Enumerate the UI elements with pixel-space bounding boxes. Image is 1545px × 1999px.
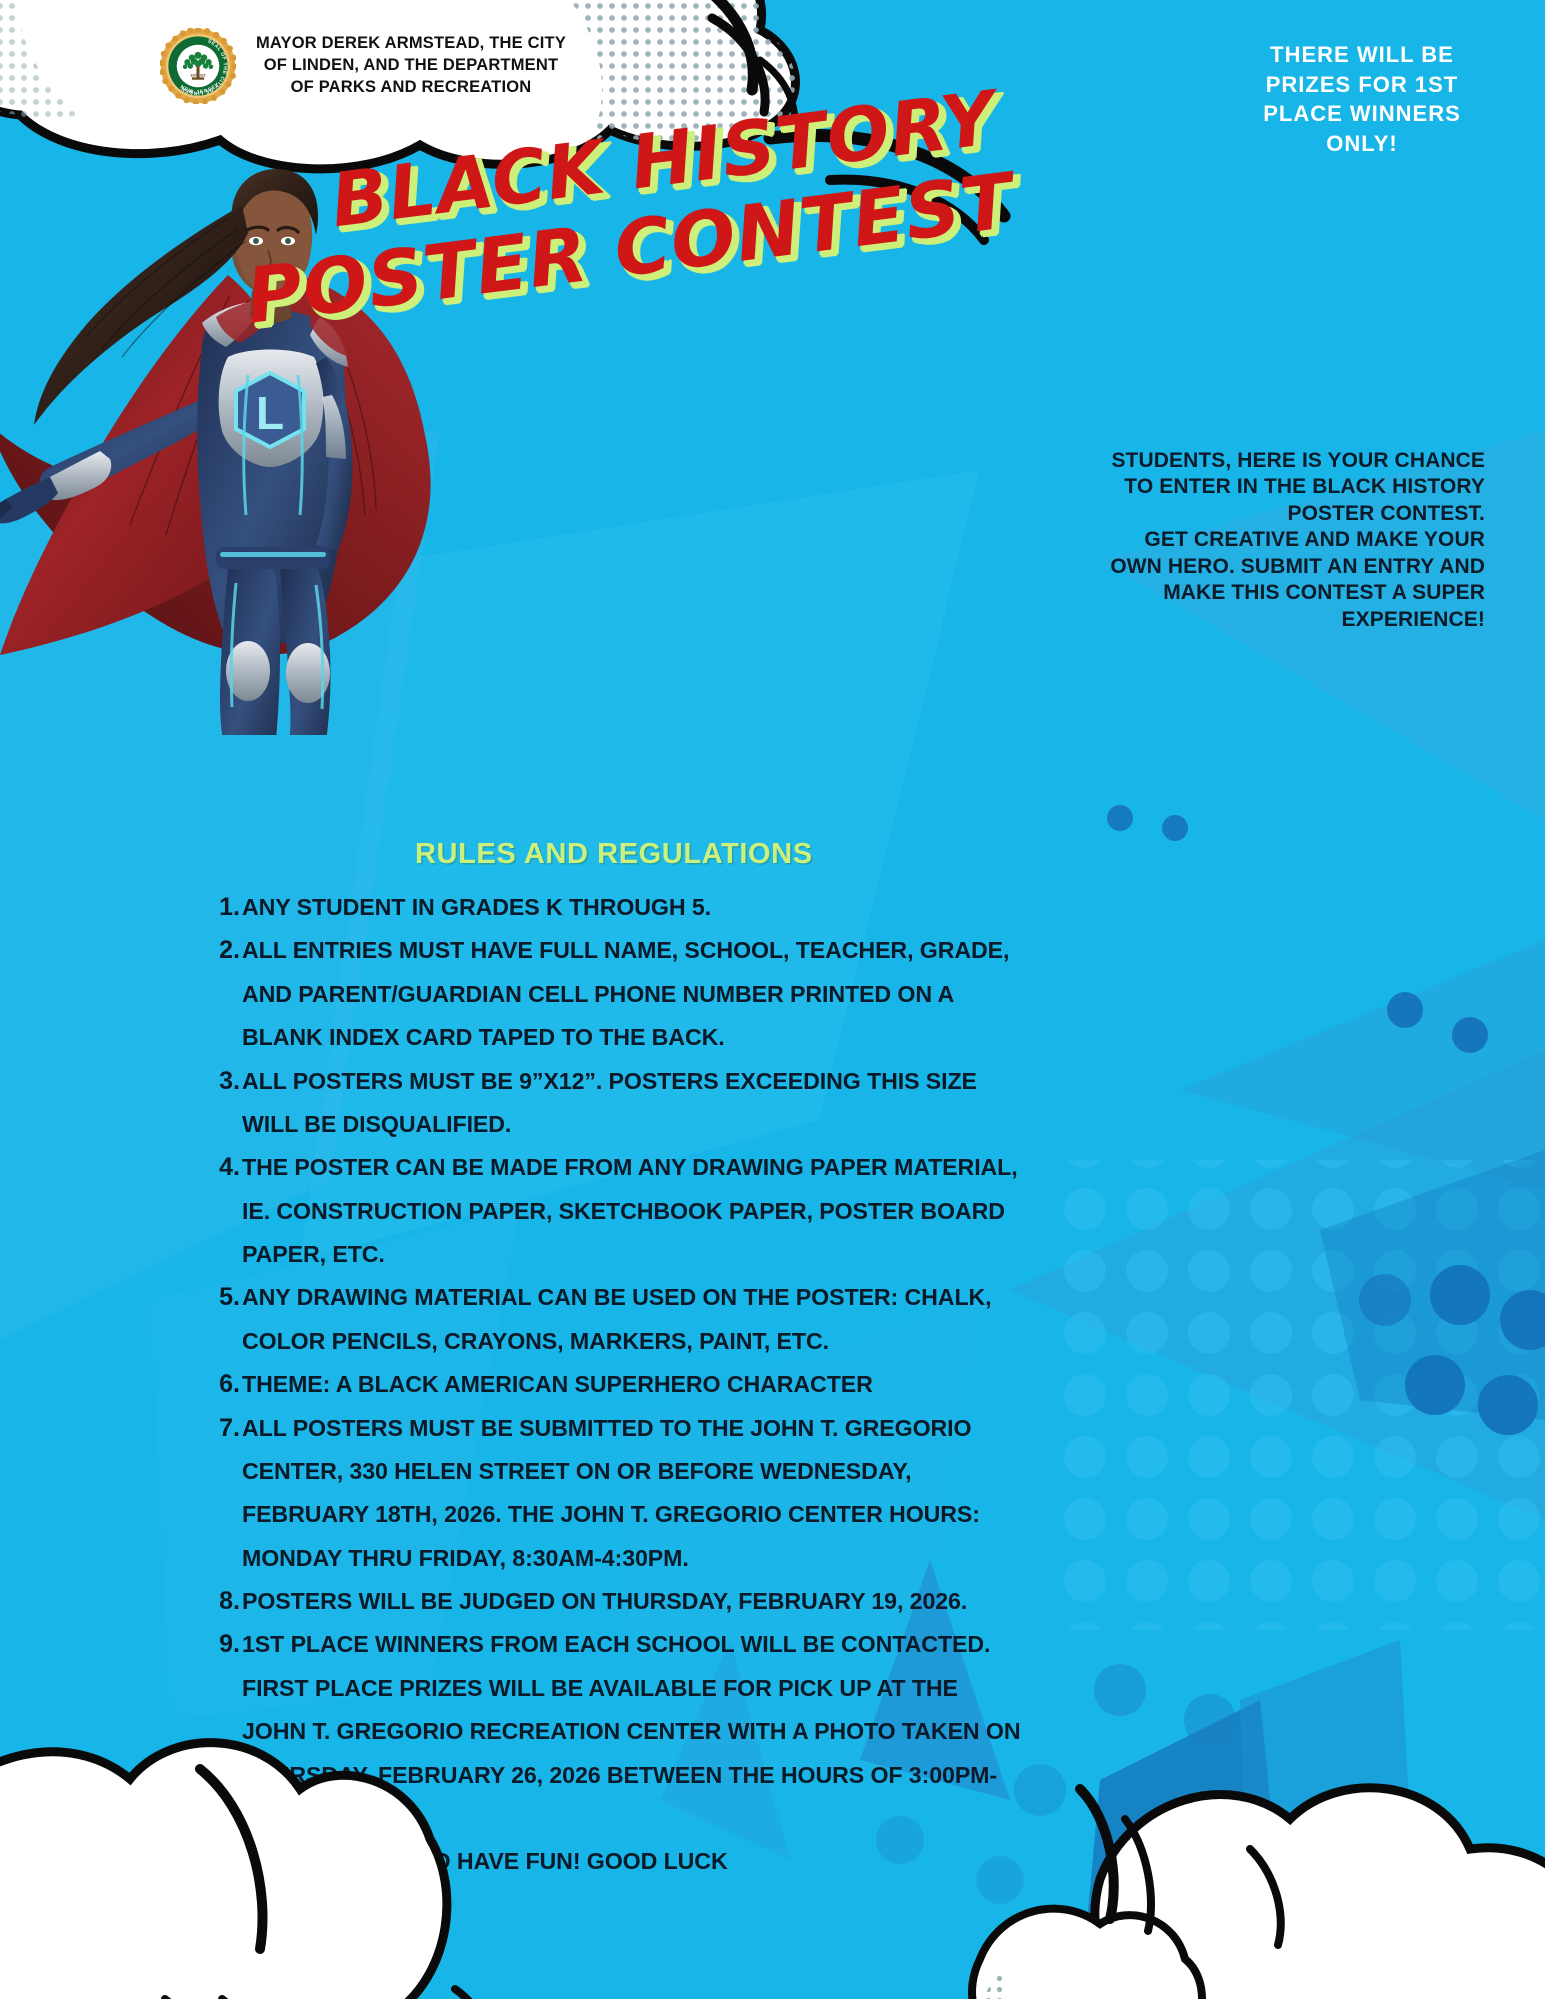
intro-line-6: MAKE THIS CONTEST A SUPER [1095,580,1485,606]
rule-item: 6.THEME: A BLACK AMERICAN SUPERHERO CHAR… [212,1363,1022,1406]
mayor-credit-block: MAYOR DEREK ARMSTEAD, THE CITY OF LINDEN… [246,33,576,99]
rule-item: 2.ALL ENTRIES MUST HAVE FULL NAME, SCHOO… [212,929,1022,1059]
rule-number: 2. [212,929,242,972]
prize-line-1: THERE WILL BE [1237,40,1487,70]
city-seal-icon: SEAL OF THE CITY OF LINDEN NEW JERSEY ES… [160,28,236,104]
rule-text: THE POSTER CAN BE MADE FROM ANY DRAWING … [242,1146,1022,1276]
rules-heading: RULES AND REGULATIONS [415,838,813,871]
rule-item: 4.THE POSTER CAN BE MADE FROM ANY DRAWIN… [212,1146,1022,1276]
rule-number: 7. [212,1407,242,1450]
rule-text: ALL POSTERS MUST BE 9”X12”. POSTERS EXCE… [242,1060,1022,1147]
intro-line-7: EXPERIENCE! [1095,607,1485,633]
comic-cloud-bottom [0,1709,1545,1999]
rule-item: 3.ALL POSTERS MUST BE 9”X12”. POSTERS EX… [212,1060,1022,1147]
rule-item: 7.ALL POSTERS MUST BE SUBMITTED TO THE J… [212,1407,1022,1581]
rule-text: ANY DRAWING MATERIAL CAN BE USED ON THE … [242,1276,1022,1363]
credit-line-2: OF LINDEN, AND THE DEPARTMENT [246,55,576,77]
prize-line-2: PRIZES FOR 1ST [1237,70,1487,100]
rule-item: 8.POSTERS WILL BE JUDGED ON THURSDAY, FE… [212,1580,1022,1623]
rule-number: 1. [212,886,242,929]
rule-number: 9. [212,1623,242,1666]
intro-paragraph: STUDENTS, HERE IS YOUR CHANCE TO ENTER I… [1095,448,1485,633]
intro-line-1: STUDENTS, HERE IS YOUR CHANCE [1095,448,1485,474]
svg-text:EST. 1925: EST. 1925 [191,74,206,78]
poster-canvas: SEAL OF THE CITY OF LINDEN NEW JERSEY ES… [0,0,1545,1999]
rule-text: THEME: A BLACK AMERICAN SUPERHERO CHARAC… [242,1363,1022,1406]
prize-line-3: PLACE WINNERS [1237,99,1487,129]
intro-line-3: POSTER CONTEST. [1095,501,1485,527]
rule-number: 8. [212,1580,242,1623]
rule-number: 3. [212,1060,242,1103]
rule-number: 4. [212,1146,242,1189]
rule-item: 5.ANY DRAWING MATERIAL CAN BE USED ON TH… [212,1276,1022,1363]
rule-text: ANY STUDENT IN GRADES K THROUGH 5. [242,886,1022,929]
rule-item: 1.ANY STUDENT IN GRADES K THROUGH 5. [212,886,1022,929]
rule-text: ALL POSTERS MUST BE SUBMITTED TO THE JOH… [242,1407,1022,1581]
credit-line-1: MAYOR DEREK ARMSTEAD, THE CITY [246,33,576,55]
intro-line-4: GET CREATIVE AND MAKE YOUR [1095,527,1485,553]
rule-number: 5. [212,1276,242,1319]
prize-line-4: ONLY! [1237,129,1487,159]
rule-text: ALL ENTRIES MUST HAVE FULL NAME, SCHOOL,… [242,929,1022,1059]
intro-line-2: TO ENTER IN THE BLACK HISTORY [1095,474,1485,500]
intro-line-5: OWN HERO. SUBMIT AN ENTRY AND [1095,554,1485,580]
rule-number: 6. [212,1363,242,1406]
prize-notice: THERE WILL BE PRIZES FOR 1ST PLACE WINNE… [1237,40,1487,159]
rule-text: POSTERS WILL BE JUDGED ON THURSDAY, FEBR… [242,1580,1022,1623]
